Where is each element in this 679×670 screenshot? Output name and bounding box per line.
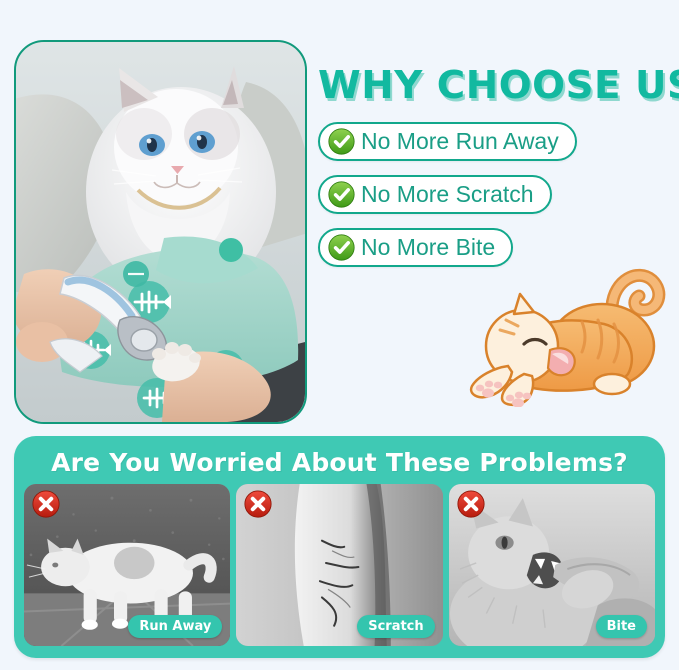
problem-photo-row: Run Away xyxy=(24,484,655,646)
problem-card-scratch: Scratch xyxy=(236,484,442,646)
benefit-label: No More Run Away xyxy=(361,128,559,155)
infographic-stage: WHY CHOOSE US? No More Run Away xyxy=(0,0,679,670)
benefit-label: No More Bite xyxy=(361,234,495,261)
problem-card-label: Scratch xyxy=(357,615,434,638)
benefits-column: WHY CHOOSE US? No More Run Away xyxy=(318,66,670,267)
check-circle-icon xyxy=(328,234,355,261)
x-mark-icon xyxy=(32,490,60,518)
benefit-item-scratch: No More Scratch xyxy=(318,175,552,214)
page-title: WHY CHOOSE US? xyxy=(318,66,677,106)
check-circle-icon xyxy=(328,128,355,155)
x-mark-icon xyxy=(244,490,272,518)
orange-tabby-cat-illustration xyxy=(462,262,677,407)
problem-card-label: Run Away xyxy=(128,615,222,638)
problem-card-bite: Bite xyxy=(449,484,655,646)
check-circle-icon xyxy=(328,181,355,208)
benefit-label: No More Scratch xyxy=(361,181,534,208)
problem-card-run-away: Run Away xyxy=(24,484,230,646)
benefit-item-run-away: No More Run Away xyxy=(318,122,577,161)
problems-title: Are You Worried About These Problems? xyxy=(14,436,665,477)
problems-panel: Are You Worried About These Problems? xyxy=(14,436,665,658)
problem-card-label: Bite xyxy=(596,615,647,638)
benefits-list: No More Run Away No More Scratch xyxy=(318,122,670,267)
x-mark-icon xyxy=(457,490,485,518)
cat-nail-trimming-photo xyxy=(14,40,307,424)
